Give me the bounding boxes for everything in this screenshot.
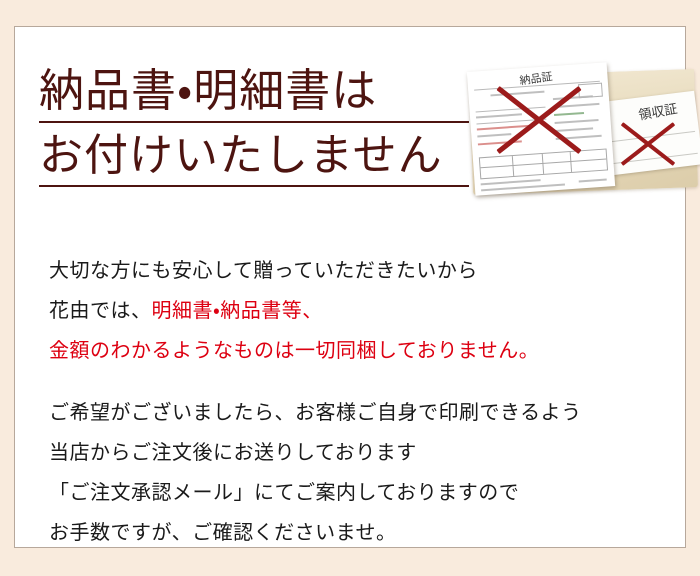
form-text-line	[554, 112, 584, 116]
headline: 納品書・明細書は お付けいたしません	[39, 63, 469, 191]
form-text-line	[490, 91, 544, 97]
form-text-line	[477, 133, 511, 137]
form-text-line	[481, 183, 565, 191]
delivery-note-document: 納品証	[467, 62, 615, 195]
notice-banner: 納品書・明細書は お付けいたしません 領収証 ¥ 納品証	[0, 0, 700, 576]
documents-illustration: 領収証 ¥ 納品証	[463, 55, 700, 215]
instructions-line-4: お手数ですが、ご確認くださいませ。	[49, 513, 582, 553]
form-rule	[476, 119, 546, 125]
assurance-line-2: 花由では、明細書・納品書等、	[49, 291, 539, 331]
headline-line-2: お付けいたしません	[39, 127, 469, 187]
form-rule	[476, 107, 546, 113]
assurance-line-3-highlight: 金額のわかるようなものは一切同梱しておりません。	[49, 331, 539, 371]
headline-line-1: 納品書・明細書は	[39, 63, 469, 123]
form-table-column-divider	[570, 152, 572, 172]
assurance-line-2-highlight: 明細書・納品書等、	[152, 300, 323, 322]
form-stamp-box	[578, 83, 603, 99]
form-table	[479, 148, 608, 179]
form-text-line	[477, 125, 529, 131]
instructions-line-1: ご希望がございましたら、お客様ご自身で印刷できるよう	[49, 393, 582, 433]
form-text-line	[476, 113, 522, 118]
form-text-line	[555, 127, 593, 132]
form-text-line	[478, 140, 522, 145]
form-table-column-divider	[512, 156, 514, 176]
content-panel: 納品書・明細書は お付けいたしません 領収証 ¥ 納品証	[14, 26, 686, 548]
form-text-line	[579, 179, 607, 183]
assurance-line-2-prefix: 花由では、	[49, 300, 152, 322]
assurance-line-1: 大切な方にも安心して贈っていただきたいから	[49, 251, 539, 291]
instructions-line-2: 当店からご注文後にお送りしております	[49, 433, 582, 473]
assurance-paragraph: 大切な方にも安心して贈っていただきたいから 花由では、明細書・納品書等、 金額の…	[49, 251, 539, 371]
form-text-line	[481, 179, 541, 185]
form-text-line	[555, 119, 599, 124]
form-text-line	[553, 103, 599, 108]
instructions-paragraph: ご希望がございましたら、お客様ご自身で印刷できるよう 当店からご注文後にお送りし…	[49, 393, 582, 553]
receipt-title-text: 領収証	[637, 98, 679, 123]
form-text-line	[556, 135, 602, 140]
form-table-column-divider	[542, 154, 544, 174]
instructions-line-3: 「ご注文承認メール」にてご案内しておりますので	[49, 473, 582, 513]
